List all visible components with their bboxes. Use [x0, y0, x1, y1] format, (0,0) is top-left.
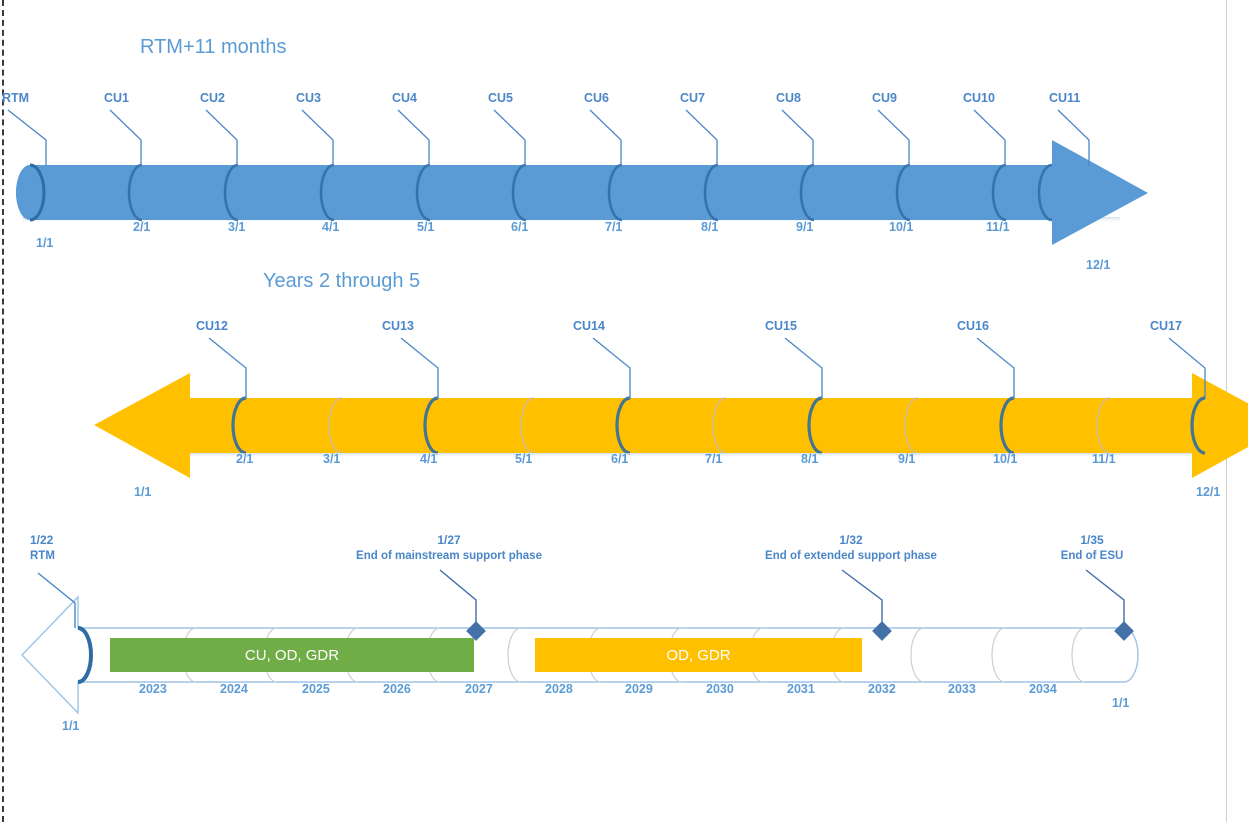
start-milestone-label: RTM [30, 550, 55, 562]
date-label: 8/1 [701, 220, 718, 234]
marker-label-rtm: RTM [2, 91, 29, 105]
timeline1-title: RTM+11 months [140, 36, 287, 59]
date-label: 10/1 [889, 220, 913, 234]
start-milestone-date: 1/22 [30, 533, 55, 547]
marker-label-cu13: CU13 [382, 319, 414, 333]
milestone-date: 1/32 [765, 533, 937, 547]
year-label: 2028 [545, 682, 573, 696]
timeline3-leader-lines [38, 570, 1124, 630]
date-label: 6/1 [611, 452, 628, 466]
date-label: 7/1 [605, 220, 622, 234]
milestone-label: End of mainstream support phase [356, 550, 542, 562]
marker-label-cu3: CU3 [296, 91, 321, 105]
date-label: 5/1 [417, 220, 434, 234]
marker-label-cu1: CU1 [104, 91, 129, 105]
date-label: 12/1 [1196, 485, 1220, 499]
milestone-date: 1/35 [1061, 533, 1124, 547]
date-label: 6/1 [511, 220, 528, 234]
marker-label-cu14: CU14 [573, 319, 605, 333]
date-label: 1/1 [36, 236, 53, 250]
year-label: 2029 [625, 682, 653, 696]
year-label: 2033 [948, 682, 976, 696]
year-label: 2023 [139, 682, 167, 696]
date-label: 8/1 [801, 452, 818, 466]
phase-bar-label-od-gdr: OD, GDR [535, 647, 862, 664]
date-label: 10/1 [993, 452, 1017, 466]
date-label: 2/1 [236, 452, 253, 466]
timeline3-start-milestone: 1/22 RTM [30, 533, 55, 562]
marker-label-cu10: CU10 [963, 91, 995, 105]
date-label: 3/1 [228, 220, 245, 234]
marker-label-cu2: CU2 [200, 91, 225, 105]
date-label: 9/1 [796, 220, 813, 234]
timeline3-start-date: 1/1 [62, 719, 79, 733]
marker-label-cu4: CU4 [392, 91, 417, 105]
marker-label-cu7: CU7 [680, 91, 705, 105]
timeline2-leader-lines [209, 338, 1205, 399]
year-label: 2032 [868, 682, 896, 696]
milestone-label: End of ESU [1061, 550, 1124, 562]
year-label: 2024 [220, 682, 248, 696]
phase-bar-label-cu-od-gdr: CU, OD, GDR [110, 647, 474, 664]
date-label: 1/1 [134, 485, 151, 499]
year-label: 2034 [1029, 682, 1057, 696]
date-label: 4/1 [322, 220, 339, 234]
date-label: 3/1 [323, 452, 340, 466]
marker-label-cu6: CU6 [584, 91, 609, 105]
date-label: 11/1 [986, 220, 1010, 234]
date-label: 4/1 [420, 452, 437, 466]
date-label: 7/1 [705, 452, 722, 466]
date-label: 11/1 [1092, 452, 1116, 466]
year-label: 2030 [706, 682, 734, 696]
date-label: 9/1 [898, 452, 915, 466]
milestone-end-extended: 1/32 End of extended support phase [765, 533, 937, 562]
timeline2-arrow [94, 373, 1248, 478]
timeline1-leader-lines [8, 110, 1089, 166]
timeline1-arrow [16, 140, 1148, 245]
year-label: 2026 [383, 682, 411, 696]
year-label: 2031 [787, 682, 815, 696]
diagram-canvas: RTM+11 months RTM CU1 CU2 CU3 CU4 CU5 CU… [0, 0, 1248, 822]
marker-label-cu15: CU15 [765, 319, 797, 333]
marker-label-cu16: CU16 [957, 319, 989, 333]
milestone-date: 1/27 [356, 533, 542, 547]
date-label: 2/1 [133, 220, 150, 234]
marker-label-cu12: CU12 [196, 319, 228, 333]
year-label: 2025 [302, 682, 330, 696]
year-label: 2027 [465, 682, 493, 696]
timeline2-title: Years 2 through 5 [263, 270, 420, 293]
milestone-end-esu: 1/35 End of ESU [1061, 533, 1124, 562]
timeline3-end-date: 1/1 [1112, 696, 1129, 710]
milestone-end-mainstream: 1/27 End of mainstream support phase [356, 533, 542, 562]
milestone-label: End of extended support phase [765, 550, 937, 562]
date-label: 5/1 [515, 452, 532, 466]
shapes-layer [0, 0, 1248, 822]
marker-label-cu17: CU17 [1150, 319, 1182, 333]
marker-label-cu8: CU8 [776, 91, 801, 105]
marker-label-cu5: CU5 [488, 91, 513, 105]
marker-label-cu11: CU11 [1049, 91, 1080, 105]
date-label: 12/1 [1086, 258, 1110, 272]
marker-label-cu9: CU9 [872, 91, 897, 105]
